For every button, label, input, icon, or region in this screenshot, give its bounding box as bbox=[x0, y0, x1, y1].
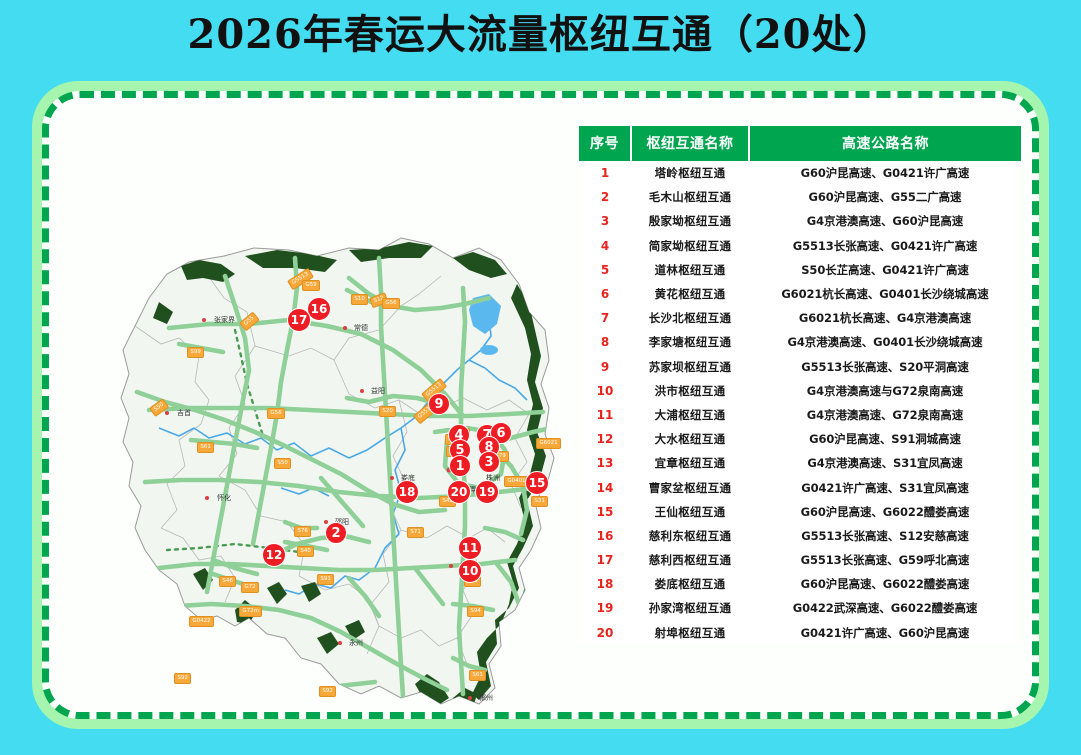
content-panel-inner: 张家界常德吉首益阳长沙株洲湘潭娄底怀化邵阳衡阳永州郴州 G5513G59S12G… bbox=[42, 91, 1039, 719]
route-shield: G59 bbox=[302, 280, 320, 291]
row-index: 7 bbox=[579, 306, 631, 330]
map-marker-10[interactable]: 10 bbox=[458, 559, 482, 583]
route-shield: S50 bbox=[274, 458, 291, 469]
route-shield: S76 bbox=[294, 526, 311, 537]
row-highway: G60沪昆高速、G55二广高速 bbox=[749, 185, 1021, 209]
map-region[interactable]: 张家界常德吉首益阳长沙株洲湘潭娄底怀化邵阳衡阳永州郴州 G5513G59S12G… bbox=[49, 98, 579, 716]
row-highway: G0422武深高速、G6022醴娄高速 bbox=[749, 596, 1021, 620]
route-shield: S10 bbox=[351, 294, 368, 305]
hub-table-region: 序号 枢纽互通名称 高速公路名称 1塔岭枢纽互通G60沪昆高速、G0421许广高… bbox=[579, 126, 1027, 645]
row-hub-name: 长沙北枢纽互通 bbox=[631, 306, 749, 330]
row-hub-name: 王仙枢纽互通 bbox=[631, 500, 749, 524]
row-highway: G5513长张高速、G59呼北高速 bbox=[749, 548, 1021, 572]
col-header-hub-name: 枢纽互通名称 bbox=[631, 126, 749, 161]
row-highway: G60沪昆高速、G6022醴娄高速 bbox=[749, 572, 1021, 596]
col-header-index: 序号 bbox=[579, 126, 631, 161]
route-shield: S31 bbox=[531, 496, 548, 507]
route-shield: G72m bbox=[239, 606, 262, 617]
row-index: 14 bbox=[579, 475, 631, 499]
table-row: 1塔岭枢纽互通G60沪昆高速、G0421许广高速 bbox=[579, 161, 1021, 185]
row-hub-name: 李家塘枢纽互通 bbox=[631, 330, 749, 354]
table-row: 11大浦枢纽互通G4京港澳高速、G72泉南高速 bbox=[579, 403, 1021, 427]
city-label: 常德 bbox=[354, 323, 368, 333]
content-panel: 张家界常德吉首益阳长沙株洲湘潭娄底怀化邵阳衡阳永州郴州 G5513G59S12G… bbox=[32, 81, 1049, 729]
map-marker-18[interactable]: 18 bbox=[395, 480, 419, 504]
row-hub-name: 殷家坳枢纽互通 bbox=[631, 209, 749, 233]
row-index: 16 bbox=[579, 524, 631, 548]
row-index: 6 bbox=[579, 282, 631, 306]
row-hub-name: 苏家坝枢纽互通 bbox=[631, 355, 749, 379]
table-row: 12大水枢纽互通G60沪昆高速、S91洞城高速 bbox=[579, 427, 1021, 451]
city-label: 张家界 bbox=[214, 315, 235, 325]
city-label: 怀化 bbox=[217, 493, 231, 503]
route-shield: S92 bbox=[174, 673, 191, 684]
row-hub-name: 射埠枢纽互通 bbox=[631, 621, 749, 645]
row-hub-name: 道林枢纽互通 bbox=[631, 258, 749, 282]
row-index: 15 bbox=[579, 500, 631, 524]
row-highway: G4京港澳高速与G72泉南高速 bbox=[749, 379, 1021, 403]
map-marker-1[interactable]: 1 bbox=[449, 455, 471, 477]
table-row: 9苏家坝枢纽互通G5513长张高速、S20平洞高速 bbox=[579, 355, 1021, 379]
table-row: 5道林枢纽互通S50长芷高速、G0421许广高速 bbox=[579, 258, 1021, 282]
row-index: 19 bbox=[579, 596, 631, 620]
table-row: 16慈利东枢纽互通G5513长张高速、S12安慈高速 bbox=[579, 524, 1021, 548]
table-row: 13宜章枢纽互通G4京港澳高速、S31宜凤高速 bbox=[579, 451, 1021, 475]
row-hub-name: 曹家坌枢纽互通 bbox=[631, 475, 749, 499]
row-hub-name: 娄底枢纽互通 bbox=[631, 572, 749, 596]
map-marker-19[interactable]: 19 bbox=[475, 480, 499, 504]
row-index: 10 bbox=[579, 379, 631, 403]
row-highway: G5513长张高速、G0421许广高速 bbox=[749, 234, 1021, 258]
row-highway: G4京港澳高速、S31宜凤高速 bbox=[749, 451, 1021, 475]
city-label: 永州 bbox=[349, 638, 363, 648]
table-header-row: 序号 枢纽互通名称 高速公路名称 bbox=[579, 126, 1021, 161]
row-highway: S50长芷高速、G0421许广高速 bbox=[749, 258, 1021, 282]
row-index: 8 bbox=[579, 330, 631, 354]
table-row: 3殷家坳枢纽互通G4京港澳高速、G60沪昆高速 bbox=[579, 209, 1021, 233]
row-highway: G5513长张高速、S12安慈高速 bbox=[749, 524, 1021, 548]
row-highway: G0421许广高速、G60沪昆高速 bbox=[749, 621, 1021, 645]
page-title: 2026年春运大流量枢纽互通（20处） bbox=[0, 8, 1081, 62]
map-marker-12[interactable]: 12 bbox=[262, 543, 286, 567]
route-shield: G56 bbox=[382, 298, 400, 309]
row-highway: G6021杭长高速、G0401长沙绕城高速 bbox=[749, 282, 1021, 306]
row-index: 12 bbox=[579, 427, 631, 451]
route-shield: G0422 bbox=[189, 616, 214, 627]
row-highway: G4京港澳高速、G0401长沙绕城高速 bbox=[749, 330, 1021, 354]
row-index: 17 bbox=[579, 548, 631, 572]
table-header: 序号 枢纽互通名称 高速公路名称 bbox=[579, 126, 1021, 161]
table-row: 4简家坳枢纽互通G5513长张高速、G0421许广高速 bbox=[579, 234, 1021, 258]
route-shield: G56 bbox=[267, 408, 285, 419]
row-highway: G60沪昆高速、S91洞城高速 bbox=[749, 427, 1021, 451]
hub-interchange-table: 序号 枢纽互通名称 高速公路名称 1塔岭枢纽互通G60沪昆高速、G0421许广高… bbox=[579, 126, 1021, 645]
poster-root: 2026年春运大流量枢纽互通（20处） bbox=[0, 0, 1081, 755]
row-index: 2 bbox=[579, 185, 631, 209]
row-hub-name: 洪市枢纽互通 bbox=[631, 379, 749, 403]
city-label: 郴州 bbox=[479, 693, 493, 703]
table-row: 19孙家湾枢纽互通G0422武深高速、G6022醴娄高速 bbox=[579, 596, 1021, 620]
row-hub-name: 简家坳枢纽互通 bbox=[631, 234, 749, 258]
map-marker-11[interactable]: 11 bbox=[458, 536, 482, 560]
row-hub-name: 孙家湾枢纽互通 bbox=[631, 596, 749, 620]
route-shield: S20 bbox=[379, 406, 396, 417]
table-row: 17慈利西枢纽互通G5513长张高速、G59呼北高速 bbox=[579, 548, 1021, 572]
route-shield: S94 bbox=[467, 606, 484, 617]
route-shield: G72 bbox=[241, 582, 259, 593]
row-highway: G4京港澳高速、G60沪昆高速 bbox=[749, 209, 1021, 233]
map-marker-15[interactable]: 15 bbox=[525, 471, 549, 495]
route-shield: S92 bbox=[319, 686, 336, 697]
table-row: 10洪市枢纽互通G4京港澳高速与G72泉南高速 bbox=[579, 379, 1021, 403]
map-marker-20[interactable]: 20 bbox=[447, 480, 471, 504]
row-hub-name: 塔岭枢纽互通 bbox=[631, 161, 749, 185]
row-index: 9 bbox=[579, 355, 631, 379]
row-index: 20 bbox=[579, 621, 631, 645]
row-index: 1 bbox=[579, 161, 631, 185]
table-row: 18娄底枢纽互通G60沪昆高速、G6022醴娄高速 bbox=[579, 572, 1021, 596]
table-row: 20射埠枢纽互通G0421许广高速、G60沪昆高速 bbox=[579, 621, 1021, 645]
row-highway: G6021杭长高速、G4京港澳高速 bbox=[749, 306, 1021, 330]
row-highway: G5513长张高速、S20平洞高速 bbox=[749, 355, 1021, 379]
col-header-highway: 高速公路名称 bbox=[749, 126, 1021, 161]
route-shield: S61 bbox=[469, 670, 486, 681]
row-hub-name: 大浦枢纽互通 bbox=[631, 403, 749, 427]
row-hub-name: 慈利西枢纽互通 bbox=[631, 548, 749, 572]
map-marker-2[interactable]: 2 bbox=[325, 522, 347, 544]
route-shield: S61 bbox=[197, 442, 214, 453]
table-body: 1塔岭枢纽互通G60沪昆高速、G0421许广高速2毛木山枢纽互通G60沪昆高速、… bbox=[579, 161, 1021, 645]
route-shield: S40 bbox=[297, 546, 314, 557]
table-row: 2毛木山枢纽互通G60沪昆高速、G55二广高速 bbox=[579, 185, 1021, 209]
row-index: 11 bbox=[579, 403, 631, 427]
map-marker-3[interactable]: 3 bbox=[478, 451, 500, 473]
table-row: 14曹家坌枢纽互通G0421许广高速、S31宜凤高速 bbox=[579, 475, 1021, 499]
route-shield: S71 bbox=[407, 527, 424, 538]
row-index: 18 bbox=[579, 572, 631, 596]
route-shield: S99 bbox=[187, 347, 204, 358]
city-label: 益阳 bbox=[371, 386, 385, 396]
table-row: 7长沙北枢纽互通G6021杭长高速、G4京港澳高速 bbox=[579, 306, 1021, 330]
row-hub-name: 慈利东枢纽互通 bbox=[631, 524, 749, 548]
map-marker-9[interactable]: 9 bbox=[428, 393, 450, 415]
row-hub-name: 宜章枢纽互通 bbox=[631, 451, 749, 475]
row-hub-name: 大水枢纽互通 bbox=[631, 427, 749, 451]
row-index: 3 bbox=[579, 209, 631, 233]
route-shield: S91 bbox=[317, 574, 334, 585]
row-index: 5 bbox=[579, 258, 631, 282]
row-highway: G4京港澳高速、G72泉南高速 bbox=[749, 403, 1021, 427]
city-label: 吉首 bbox=[177, 408, 191, 418]
table-row: 15王仙枢纽互通G60沪昆高速、G6022醴娄高速 bbox=[579, 500, 1021, 524]
table-row: 8李家塘枢纽互通G4京港澳高速、G0401长沙绕城高速 bbox=[579, 330, 1021, 354]
row-hub-name: 黄花枢纽互通 bbox=[631, 282, 749, 306]
row-highway: G60沪昆高速、G6022醴娄高速 bbox=[749, 500, 1021, 524]
row-hub-name: 毛木山枢纽互通 bbox=[631, 185, 749, 209]
row-highway: G0421许广高速、S31宜凤高速 bbox=[749, 475, 1021, 499]
row-highway: G60沪昆高速、G0421许广高速 bbox=[749, 161, 1021, 185]
route-shield: G6021 bbox=[536, 438, 561, 449]
map-marker-17[interactable]: 17 bbox=[287, 308, 311, 332]
row-index: 4 bbox=[579, 234, 631, 258]
table-row: 6黄花枢纽互通G6021杭长高速、G0401长沙绕城高速 bbox=[579, 282, 1021, 306]
route-shield: S46 bbox=[219, 576, 236, 587]
row-index: 13 bbox=[579, 451, 631, 475]
hunan-province-map bbox=[49, 98, 579, 716]
